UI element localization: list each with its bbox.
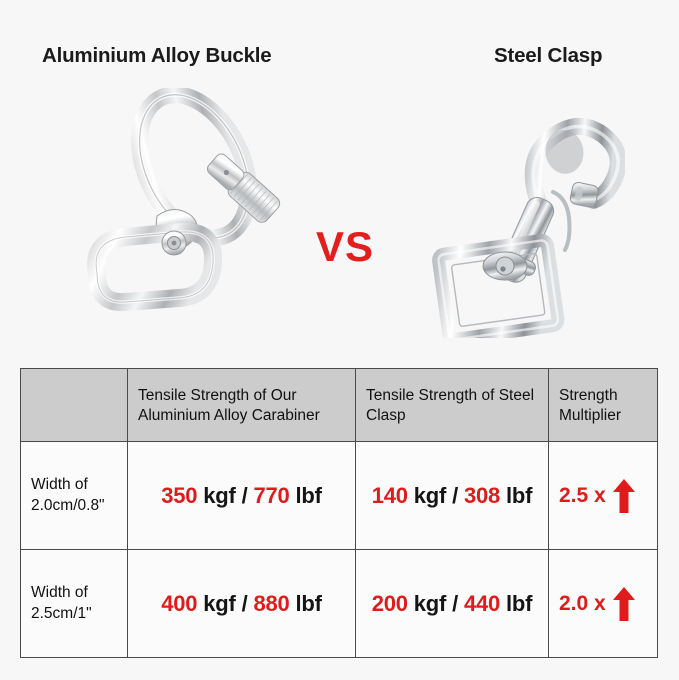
right-product-title: Steel Clasp xyxy=(494,44,602,68)
alu-lbf-value-row-2: 880 xyxy=(253,591,289,616)
multiplier-value-row-1: 2.5 x xyxy=(559,484,606,508)
header-cell-multiplier: Strength Multiplier xyxy=(549,369,658,442)
steel-separator-row-2: / xyxy=(452,591,458,616)
table-row: Width of 2.0cm/0.8" 350 kgf / 770 lbf 14… xyxy=(21,442,658,550)
steel-kgf-value-row-1: 140 xyxy=(372,483,408,508)
table-header-row: Tensile Strength of Our Aluminium Alloy … xyxy=(21,369,658,442)
steel-lbf-value-row-1: 308 xyxy=(464,483,500,508)
aluminium-strength-row-2: 400 kgf / 880 lbf xyxy=(128,550,356,658)
steel-strength-row-1: 140 kgf / 308 lbf xyxy=(356,442,549,550)
steel-lbf-unit-row-2: lbf xyxy=(506,591,532,616)
multiplier-cell-row-2: 2.0 x xyxy=(549,550,658,658)
steel-lbf-value-row-2: 440 xyxy=(464,591,500,616)
alu-kgf-value-row-1: 350 xyxy=(161,483,197,508)
alu-kgf-unit-row-1: kgf xyxy=(203,483,235,508)
aluminium-carabiner-image xyxy=(75,88,310,338)
header-cell-aluminium: Tensile Strength of Our Aluminium Alloy … xyxy=(128,369,356,442)
alu-separator-row-1: / xyxy=(242,483,248,508)
product-comparison-hero: VS xyxy=(0,88,679,343)
steel-strength-row-2: 200 kgf / 440 lbf xyxy=(356,550,549,658)
alu-lbf-unit-row-1: lbf xyxy=(295,483,321,508)
steel-clasp-image xyxy=(425,88,625,338)
multiplier-value-row-2: 2.0 x xyxy=(559,592,606,616)
alu-lbf-unit-row-2: lbf xyxy=(295,591,321,616)
steel-kgf-unit-row-2: kgf xyxy=(414,591,446,616)
steel-kgf-value-row-2: 200 xyxy=(372,591,408,616)
row-label-width-25mm: Width of 2.5cm/1" xyxy=(21,550,128,658)
left-product-title: Aluminium Alloy Buckle xyxy=(42,44,272,68)
alu-lbf-value-row-1: 770 xyxy=(253,483,289,508)
versus-label: VS xyxy=(305,223,385,271)
multiplier-cell-row-1: 2.5 x xyxy=(549,442,658,550)
steel-separator-row-1: / xyxy=(452,483,458,508)
steel-lbf-unit-row-1: lbf xyxy=(506,483,532,508)
product-titles: Aluminium Alloy Buckle Steel Clasp xyxy=(0,44,679,74)
table-row: Width of 2.5cm/1" 400 kgf / 880 lbf 200 … xyxy=(21,550,658,658)
aluminium-strength-row-1: 350 kgf / 770 lbf xyxy=(128,442,356,550)
row-label-width-20mm: Width of 2.0cm/0.8" xyxy=(21,442,128,550)
up-arrow-icon xyxy=(613,479,635,513)
alu-kgf-unit-row-2: kgf xyxy=(203,591,235,616)
steel-kgf-unit-row-1: kgf xyxy=(414,483,446,508)
strength-comparison-table: Tensile Strength of Our Aluminium Alloy … xyxy=(20,368,658,658)
up-arrow-icon xyxy=(613,587,635,621)
alu-kgf-value-row-2: 400 xyxy=(161,591,197,616)
header-cell-blank xyxy=(21,369,128,442)
alu-separator-row-2: / xyxy=(242,591,248,616)
header-cell-steel: Tensile Strength of Steel Clasp xyxy=(356,369,549,442)
